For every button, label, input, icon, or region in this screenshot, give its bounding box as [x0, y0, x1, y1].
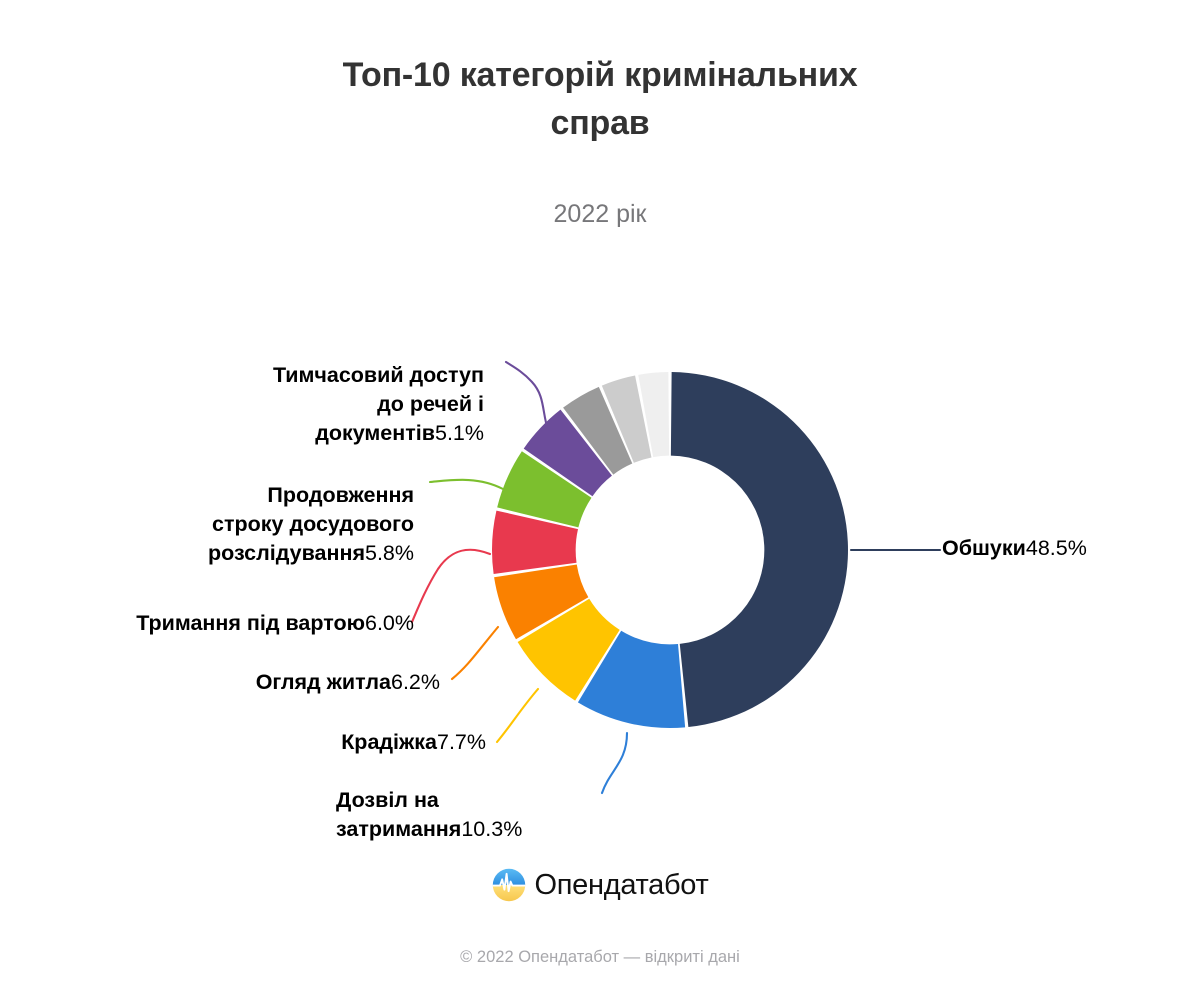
- slice-label-ohlyad-value: 6.2%: [391, 670, 440, 694]
- slice-label-tymchasovyi-value: 5.1%: [435, 421, 484, 445]
- leader-line-prodovzhennya: [430, 480, 503, 489]
- leader-line-group: [412, 362, 940, 793]
- slice-label-kradizhka: Крадіжка7.7%: [180, 728, 486, 757]
- slice-label-prodovzhennya-stroku: Продовження строку досудового розслідува…: [60, 481, 414, 569]
- slice-label-dozvil-name: Дозвіл на затримання: [336, 788, 461, 841]
- donut-slice: [494, 564, 588, 639]
- chart-title: Топ-10 категорій кримінальних справ: [200, 52, 1000, 147]
- copyright-text: © 2022 Опендатабот — відкриті дані: [0, 948, 1200, 967]
- slice-label-prodovzhennya-value: 5.8%: [365, 541, 414, 565]
- leader-line-ohlyad: [452, 627, 498, 679]
- donut-slice: [492, 511, 578, 574]
- donut-slice: [638, 372, 669, 457]
- donut-slice: [518, 599, 620, 701]
- slice-label-ohlyad-zhytla: Огляд житла6.2%: [134, 668, 440, 697]
- donut-slice: [671, 372, 848, 727]
- slice-label-kradizhka-name: Крадіжка: [341, 730, 437, 754]
- slice-label-dozvil-na-zatrymannya: Дозвіл на затримання10.3%: [336, 786, 636, 844]
- donut-slice: [563, 387, 632, 475]
- slice-label-ohlyad-name: Огляд житла: [256, 670, 391, 694]
- leader-line-tymchasovyi: [506, 362, 548, 430]
- donut-slice-group: [492, 372, 848, 728]
- donut-slice: [602, 375, 652, 462]
- slice-label-trymannya-pid-vartoyu: Тримання під вартою6.0%: [40, 609, 414, 638]
- slice-label-dozvil-value: 10.3%: [461, 817, 522, 841]
- brand-name: Опендатабот: [535, 869, 709, 902]
- slice-label-obshuky-name: Обшуки: [942, 536, 1026, 560]
- slice-label-tymchasovyi-dostup: Тимчасовий доступ до речей і документів5…: [140, 361, 484, 449]
- slice-label-trymannya-value: 6.0%: [365, 611, 414, 635]
- donut-slice: [497, 451, 591, 527]
- slice-label-obshuky: Обшуки48.5%: [942, 534, 1182, 563]
- slice-label-kradizhka-value: 7.7%: [437, 730, 486, 754]
- brand-lockup: Опендатабот: [0, 868, 1200, 902]
- opendatabot-logo-icon: [492, 868, 526, 902]
- leader-line-kradizhka: [497, 689, 538, 742]
- donut-slice: [524, 410, 612, 497]
- slice-label-trymannya-name: Тримання під вартою: [136, 611, 365, 635]
- slice-label-obshuky-value: 48.5%: [1026, 536, 1087, 560]
- donut-slice: [578, 631, 685, 728]
- chart-canvas: Топ-10 категорій кримінальних справ 2022…: [0, 0, 1200, 1000]
- chart-subtitle: 2022 рік: [200, 200, 1000, 229]
- leader-line-dozvil: [602, 733, 627, 793]
- leader-line-trymannya: [412, 550, 490, 622]
